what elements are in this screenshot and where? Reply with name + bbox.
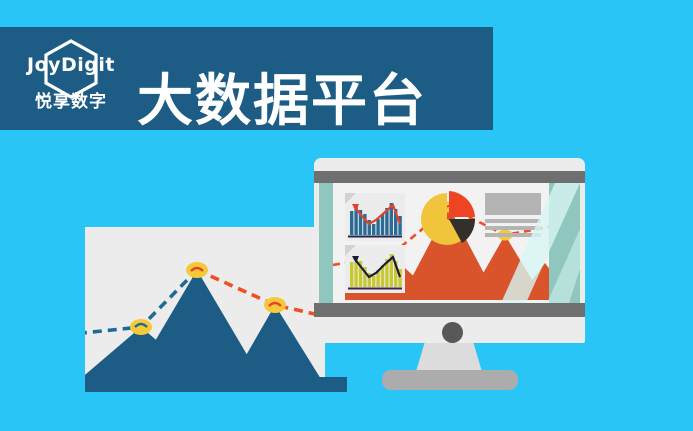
axis-line — [348, 236, 402, 238]
bar-chart-yellow — [345, 245, 405, 293]
dashboard-surface — [333, 183, 549, 303]
monitor-bottom-bar — [314, 303, 585, 317]
bar-chart-yellow-card[interactable] — [345, 245, 405, 293]
block-row — [485, 226, 541, 230]
pie-chart[interactable] — [419, 191, 475, 247]
text-placeholder-block[interactable] — [485, 193, 541, 237]
pie-slice-b — [449, 191, 475, 217]
mountain-shapes — [85, 270, 347, 392]
bar-chart-blue — [345, 193, 405, 241]
desktop-monitor — [314, 158, 585, 390]
monitor-screen[interactable] — [319, 183, 580, 303]
brand-logo: JoyDigit 悦享数字 — [16, 37, 126, 121]
mountain-chart-left — [85, 227, 347, 392]
block-row — [485, 219, 541, 223]
page-title: 大数据平台 — [137, 73, 427, 129]
illustration-canvas: JoyDigit 悦享数字 大数据平台 — [0, 0, 693, 431]
monitor-base — [382, 370, 518, 390]
bar-chart-blue-card[interactable] — [345, 193, 405, 241]
block-header — [485, 193, 541, 215]
logo-wordmark: JoyDigit — [16, 56, 126, 75]
logo-subtext: 悦享数字 — [16, 93, 126, 110]
monitor-top-bar — [314, 171, 585, 183]
header-banner: JoyDigit 悦享数字 大数据平台 — [0, 27, 493, 130]
camera-dot-icon — [442, 322, 463, 343]
axis-line — [348, 288, 402, 290]
block-row — [485, 233, 541, 237]
